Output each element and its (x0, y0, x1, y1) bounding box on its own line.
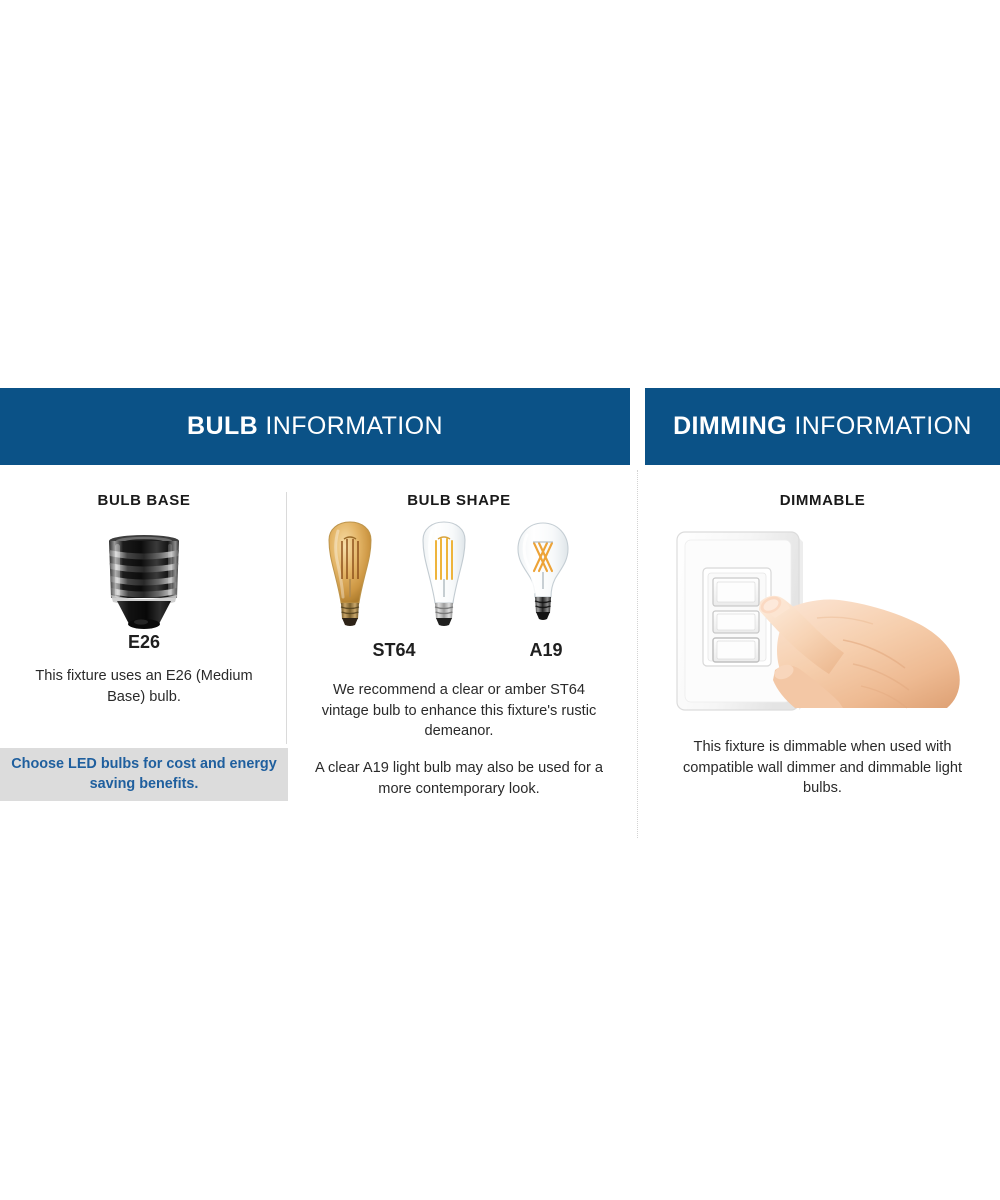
dimmable-column: DIMMABLE (645, 465, 1000, 799)
e26-base-figure (0, 527, 288, 632)
bulb-base-column: BULB BASE (0, 465, 288, 707)
bulb-shape-paragraph-1: We recommend a clear or amber ST64 vinta… (310, 680, 608, 742)
bulb-and-dimming-information-page: BULB INFORMATION DIMMING INFORMATION BUL… (0, 0, 1000, 1200)
bulb-base-description: This fixture uses an E26 (Medium Base) b… (0, 666, 288, 707)
bulb-shape-column: BULB SHAPE (288, 465, 630, 800)
bulb-information-header: BULB INFORMATION (0, 388, 630, 465)
a19-clear-bulb-icon (506, 519, 580, 631)
bulb-shape-label-a19: A19 (496, 640, 596, 661)
bulb-information-title: BULB INFORMATION (187, 412, 443, 441)
dimming-information-panel: DIMMABLE (645, 465, 1000, 840)
led-callout-text: Choose LED bulbs for cost and energy sav… (0, 755, 288, 794)
bulb-shape-copy: We recommend a clear or amber ST64 vinta… (288, 680, 630, 800)
bulb-shape-labels: ST64 A19 (288, 640, 630, 666)
hand-pressing-dimmer-switch-icon (667, 522, 979, 712)
bulb-shape-label-st64: ST64 (334, 640, 454, 661)
dimming-information-title-rest: INFORMATION (787, 412, 972, 440)
bulb-shape-heading: BULB SHAPE (288, 492, 630, 509)
dimming-information-title-strong: DIMMING (673, 412, 787, 440)
dimmer-switch-figure (645, 522, 1000, 717)
bulb-information-title-rest: INFORMATION (258, 412, 443, 440)
dimmable-heading: DIMMABLE (645, 492, 1000, 509)
bulb-base-item-label: E26 (0, 632, 288, 653)
dimmable-description: This fixture is dimmable when used with … (645, 737, 1000, 799)
dimming-information-header: DIMMING INFORMATION (645, 388, 1000, 465)
bulb-shape-figure (288, 519, 630, 634)
st64-amber-bulb-icon (311, 519, 389, 631)
bulb-information-title-strong: BULB (187, 412, 258, 440)
led-callout-box: Choose LED bulbs for cost and energy sav… (0, 748, 288, 801)
dimming-information-title: DIMMING INFORMATION (673, 412, 972, 441)
e26-base-icon (84, 532, 204, 632)
panel-dotted-divider (637, 470, 638, 838)
st64-clear-bulb-icon (404, 519, 484, 631)
bulb-base-heading: BULB BASE (0, 492, 288, 509)
bulb-shape-paragraph-2: A clear A19 light bulb may also be used … (310, 758, 608, 799)
